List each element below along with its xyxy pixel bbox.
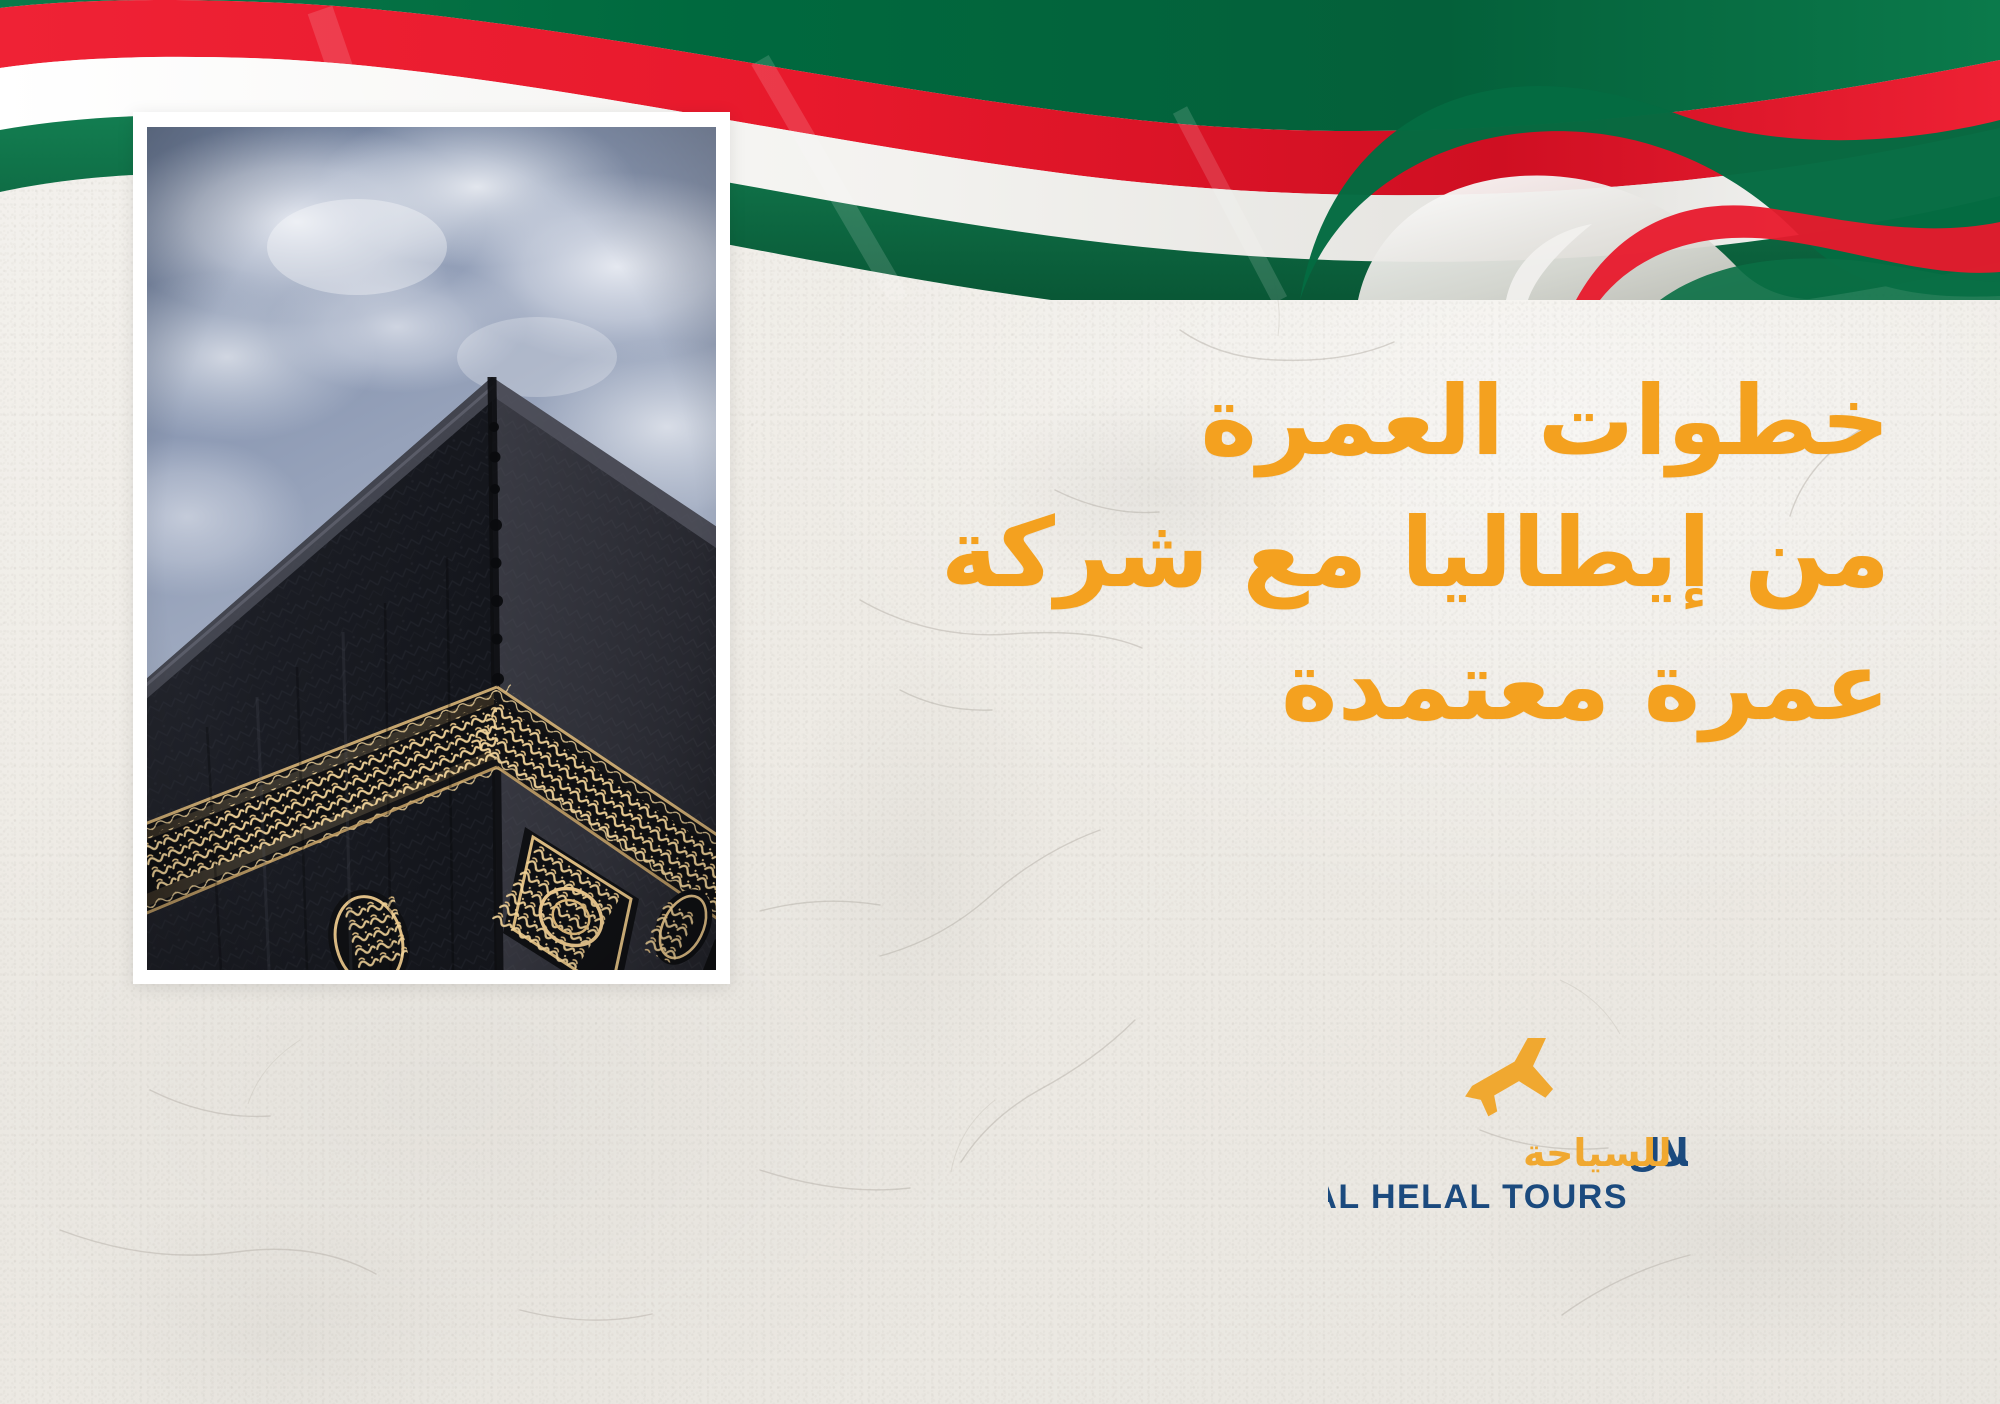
headline-line-2: من إيطاليا مع شركة xyxy=(790,487,1890,619)
al-helal-tours-logo[interactable]: الهلال للسياحة AL HELAL TOURS الهلال للس… xyxy=(1328,1038,1688,1288)
poster-canvas: خطوات العمرة من إيطاليا مع شركة عمرة معت… xyxy=(0,0,2000,1404)
logo-arabic-name: الهلال للسياحة xyxy=(1688,1038,1689,1039)
logo-latin-wordmark: AL HELAL TOURS xyxy=(1328,1178,1628,1216)
logo-arabic-part-2: للسياحة xyxy=(1523,1131,1672,1175)
logo-latin-name: AL HELAL TOURS xyxy=(1688,1038,1689,1039)
kaaba-photo xyxy=(147,127,716,970)
crescent-moon-icon xyxy=(1372,1052,1486,1264)
headline-line-1: خطوات العمرة xyxy=(790,355,1890,487)
headline-block: خطوات العمرة من إيطاليا مع شركة عمرة معت… xyxy=(790,355,1890,752)
headline-line-3: عمرة معتمدة xyxy=(790,620,1890,752)
photo-frame xyxy=(133,112,730,984)
logo-arabic-wordmark: الهلال للسياحة xyxy=(1523,1131,1688,1175)
airplane-icon xyxy=(1450,1038,1571,1121)
